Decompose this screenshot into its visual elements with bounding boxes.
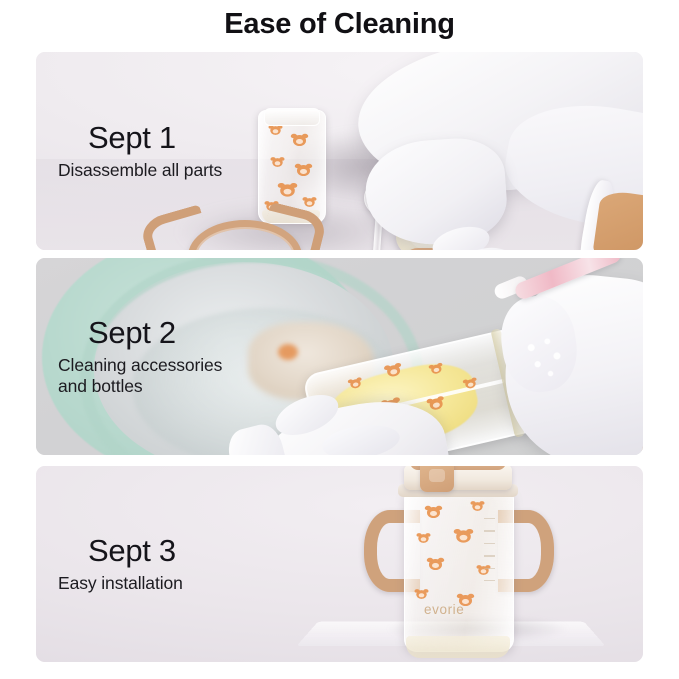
step-panel-2: evorie Sept 2 Cleaning accessories and b… bbox=[36, 258, 643, 455]
infographic-page: Ease of Cleaning bbox=[0, 0, 679, 679]
step-1-description: Disassemble all parts bbox=[58, 160, 276, 180]
step-3-description: Easy installation bbox=[58, 573, 276, 593]
lid-clasp bbox=[420, 466, 454, 492]
bear-pattern-icon bbox=[297, 165, 310, 176]
step-1-text-block: Sept 1 Disassemble all parts bbox=[36, 52, 276, 250]
step-panel-1: Sept 1 Disassemble all parts bbox=[36, 52, 643, 250]
bear-pattern-icon bbox=[293, 135, 306, 146]
step-2-description: Cleaning accessories and bottles bbox=[58, 355, 276, 396]
step-2-description-line-2: and bottles bbox=[58, 376, 276, 396]
bear-pattern-icon bbox=[416, 590, 426, 599]
volume-scale-marks bbox=[484, 518, 502, 610]
step-2-title: Sept 2 bbox=[88, 317, 276, 350]
page-title: Ease of Cleaning bbox=[0, 8, 679, 41]
step-3-title: Sept 3 bbox=[88, 535, 276, 568]
bear-pattern-icon bbox=[418, 534, 428, 543]
bottle-base bbox=[406, 636, 510, 658]
step-2-description-line-1: Cleaning accessories bbox=[58, 355, 276, 375]
step-3-text-block: Sept 3 Easy installation bbox=[36, 466, 276, 662]
soap-suds bbox=[522, 332, 568, 384]
bear-pattern-icon bbox=[472, 502, 482, 511]
bear-pattern-icon bbox=[280, 184, 295, 196]
bear-pattern-icon bbox=[304, 198, 314, 207]
step-1-title: Sept 1 bbox=[88, 122, 276, 155]
step-2-text-block: Sept 2 Cleaning accessories and bottles bbox=[36, 258, 276, 455]
step-panel-3: evorie Sept 3 Easy installation bbox=[36, 466, 643, 662]
bear-pattern-icon bbox=[278, 344, 298, 360]
brand-mark: evorie bbox=[424, 602, 464, 617]
bear-pattern-icon bbox=[427, 507, 440, 518]
bear-pattern-icon bbox=[456, 530, 471, 542]
bear-pattern-icon bbox=[429, 559, 442, 570]
